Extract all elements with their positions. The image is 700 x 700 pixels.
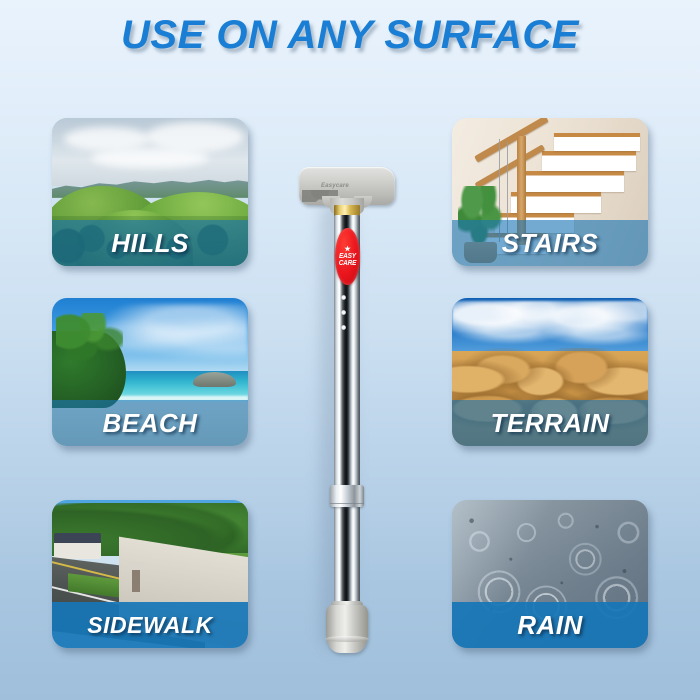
surface-tile-beach: BEACH [52,298,248,446]
surface-tile-rain: RAIN [452,500,648,648]
tile-label-band: STAIRS [452,220,648,266]
tile-label: HILLS [111,228,189,259]
mailbox [132,562,140,592]
cloud-shape [91,148,209,169]
tile-label: STAIRS [502,228,598,259]
surface-tile-hills: HILLS [52,118,248,266]
stair-step [554,133,640,151]
height-adjust-hole [341,310,346,315]
tip-base-ring [325,636,369,642]
tile-label-band: SIDEWALK [52,602,248,648]
tile-label-band: BEACH [52,400,248,446]
surface-tile-stairs: STAIRS [452,118,648,266]
height-adjust-hole [341,295,346,300]
rubber-tip [326,605,368,653]
height-adjust-hole [341,325,346,330]
tile-label: SIDEWALK [87,612,212,639]
tile-label-band: TERRAIN [452,400,648,446]
tile-label: BEACH [103,408,198,439]
tile-label: TERRAIN [490,408,609,439]
cloud-shape [64,127,150,151]
house-building [54,533,101,560]
tile-label-band: RAIN [452,602,648,648]
tile-label: RAIN [517,610,583,641]
adjustment-collar [330,485,364,507]
tile-label-band: HILLS [52,220,248,266]
surface-tile-sidewalk: SIDEWALK [52,500,248,648]
page-title: USE ON ANY SURFACE [0,13,700,58]
product-cane: Easycare ★ EASY CARE [286,160,414,660]
logo-text-line2: CARE [339,259,357,267]
surface-tile-terrain: TERRAIN [452,298,648,446]
stair-step [542,151,636,172]
easycare-logo-sticker: ★ EASY CARE [335,228,360,285]
handle-brand-emboss: Easycare [321,183,349,189]
product-infographic-poster: USE ON ANY SURFACE HILLS [0,0,700,700]
stair-step [526,171,624,192]
palm-tree [56,313,123,375]
